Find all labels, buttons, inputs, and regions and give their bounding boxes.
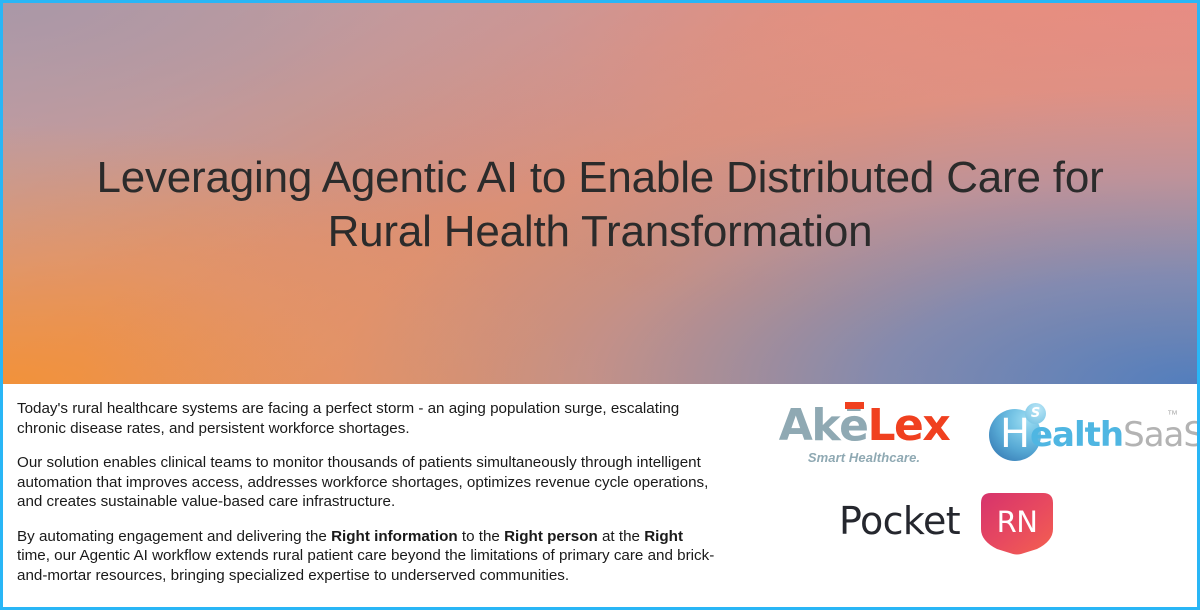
p3-part-2: to the: [458, 528, 504, 545]
pocketrn-logo: Pocket RN: [839, 489, 1099, 559]
healthsaas-trademark: ™: [1167, 409, 1178, 421]
content-area: Today's rural healthcare systems are fac…: [3, 387, 1197, 607]
akelex-word-lex: Lex: [867, 400, 949, 451]
akelex-macron-icon: [845, 402, 864, 409]
logo-column: AkēLex Smart Healthcare. H S ealthSaaS ™…: [729, 387, 1197, 607]
p3-part-1: By automating engagement and delivering …: [17, 528, 331, 545]
p3-bold-right-information: Right information: [331, 528, 458, 545]
title-banner: Leveraging Agentic AI to Enable Distribu…: [3, 3, 1197, 384]
page-title: Leveraging Agentic AI to Enable Distribu…: [3, 151, 1197, 259]
body-text-column: Today's rural healthcare systems are fac…: [3, 387, 729, 607]
body-paragraph-3: By automating engagement and delivering …: [17, 527, 715, 586]
pocketrn-wordmark: Pocket: [839, 499, 960, 543]
p3-bold-right: Right: [644, 528, 683, 545]
akelex-tagline: Smart Healthcare.: [749, 450, 979, 465]
healthsaas-wordmark: ealthSaaS: [1030, 415, 1200, 455]
p3-part-4: time, our Agentic AI workflow extends ru…: [17, 547, 714, 584]
akelex-wordmark: AkēLex: [749, 403, 979, 449]
body-paragraph-2: Our solution enables clinical teams to m…: [17, 453, 715, 512]
healthsaas-word-ealth: ealth: [1030, 415, 1123, 455]
title-line-2: Rural Health Transformation: [27, 205, 1173, 259]
p3-bold-right-person: Right person: [504, 528, 598, 545]
akelex-logo: AkēLex Smart Healthcare.: [749, 403, 979, 465]
p3-part-3: at the: [598, 528, 644, 545]
pocketrn-badge-text: RN: [981, 493, 1053, 551]
healthsaas-logo: H S ealthSaaS ™: [981, 397, 1196, 463]
slide-root: Leveraging Agentic AI to Enable Distribu…: [0, 0, 1200, 610]
body-paragraph-1: Today's rural healthcare systems are fac…: [17, 399, 715, 438]
akelex-word-ake: Akē: [779, 400, 868, 451]
healthsaas-word-saas: SaaS: [1123, 415, 1200, 455]
title-line-1: Leveraging Agentic AI to Enable Distribu…: [27, 151, 1173, 205]
